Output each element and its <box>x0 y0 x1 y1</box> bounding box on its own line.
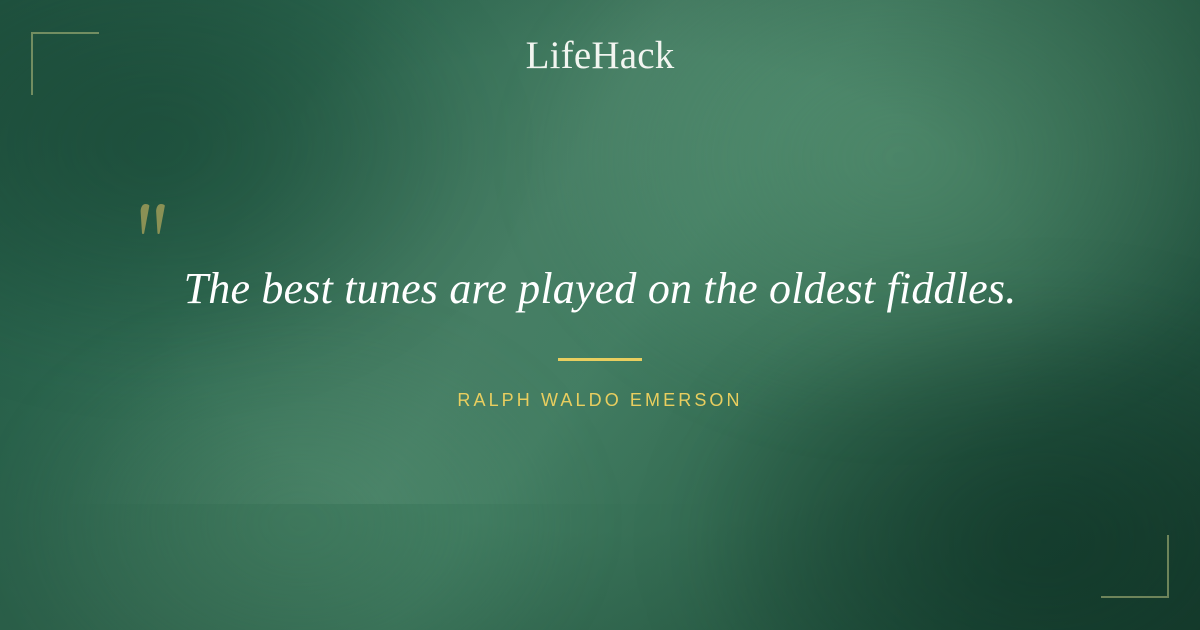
gold-divider <box>558 358 642 361</box>
brand-logo: LifeHack <box>0 36 1200 75</box>
divider-container <box>0 358 1200 361</box>
quote-text: The best tunes are played on the oldest … <box>90 263 1110 315</box>
quote-author: RALPH WALDO EMERSON <box>0 390 1200 411</box>
quote-card: LifeHack The best tunes are played on th… <box>0 0 1200 630</box>
